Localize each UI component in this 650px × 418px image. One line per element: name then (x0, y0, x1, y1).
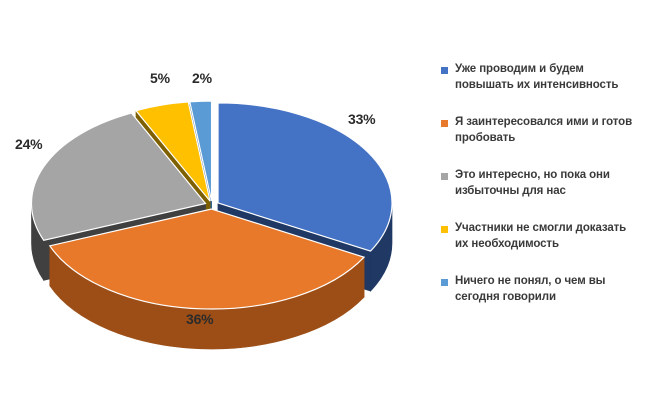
legend-item-0[interactable]: Уже проводим и будем повышать их интенси… (441, 62, 650, 93)
legend-swatch-icon (441, 67, 448, 74)
legend-label-line-2: пробовать (455, 132, 515, 144)
legend-label-line-2: их необходимость (455, 238, 559, 250)
legend-swatch-icon (441, 120, 448, 127)
legend-label-line-1: Я заинтересовался ими и готов (455, 116, 632, 128)
data-label-slice-2: 36% (186, 311, 213, 327)
data-label-slice-3: 24% (15, 136, 42, 152)
legend-label-line-2: сегодня говорили (455, 291, 556, 303)
legend-label-line-1: Участники не смогли доказать (455, 222, 626, 234)
legend-item-label: Я заинтересовался ими и готов пробовать (455, 115, 632, 146)
legend-label-line-2: повышать их интенсивность (455, 79, 618, 91)
legend-item-3[interactable]: Участники не смогли доказать их необходи… (441, 221, 650, 252)
legend-swatch-icon (441, 279, 448, 286)
legend-item-2[interactable]: Это интересно, но пока они избыточны для… (441, 168, 650, 199)
data-label-slice-4: 5% (150, 70, 170, 86)
pie-chart-figure: 33% 36% 24% 5% 2% Уже проводим и будем п… (0, 0, 650, 418)
data-label-slice-5: 2% (192, 70, 212, 86)
legend-label-line-1: Ничего не понял, о чем вы (455, 275, 605, 287)
legend-item-label: Участники не смогли доказать их необходи… (455, 221, 626, 252)
legend-label-line-2: избыточны для нас (455, 185, 566, 197)
legend-item-label: Уже проводим и будем повышать их интенси… (455, 62, 618, 93)
legend-item-1[interactable]: Я заинтересовался ими и готов пробовать (441, 115, 650, 146)
legend-swatch-icon (441, 173, 448, 180)
legend-label-line-1: Это интересно, но пока они (455, 169, 610, 181)
data-label-slice-1: 33% (348, 111, 375, 127)
legend-label-line-1: Уже проводим и будем (455, 63, 584, 75)
legend-swatch-icon (441, 226, 448, 233)
legend-item-4[interactable]: Ничего не понял, о чем вы сегодня говори… (441, 274, 650, 305)
legend-item-label: Ничего не понял, о чем вы сегодня говори… (455, 274, 605, 305)
chart-legend: Уже проводим и будем повышать их интенси… (441, 62, 650, 327)
pie-svg (0, 0, 430, 418)
legend-item-label: Это интересно, но пока они избыточны для… (455, 168, 610, 199)
pie-plot-area: 33% 36% 24% 5% 2% (0, 0, 430, 418)
